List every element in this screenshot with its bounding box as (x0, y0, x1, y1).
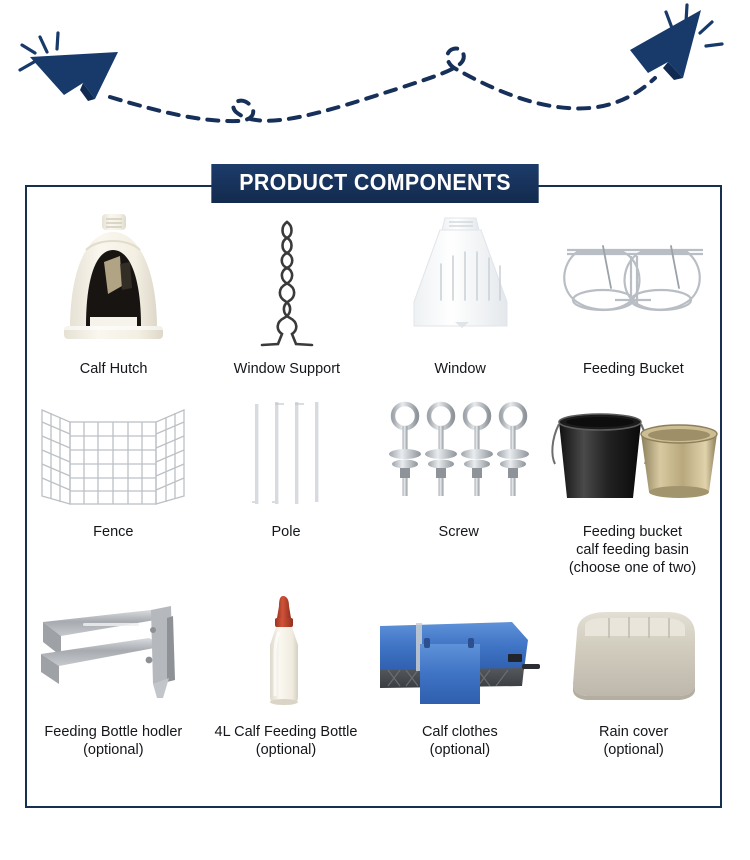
component-label: Window Support (234, 360, 340, 378)
calf-hutch-image (27, 204, 200, 354)
component-label: Pole (271, 523, 300, 541)
component-label: Rain cover (optional) (599, 723, 668, 759)
product-components-page: PRODUCT COMPONENTS (0, 0, 750, 860)
components-row: Feeding Bottle hodler (optional) (27, 592, 720, 759)
component-feeding-bucket-basin[interactable]: Feeding bucket calf feeding basin (choos… (545, 392, 720, 577)
header-decoration (0, 0, 750, 160)
feeding-bucket-basin-image (545, 392, 720, 517)
section-title-banner: PRODUCT COMPONENTS (0, 161, 750, 205)
components-grid: Calf Hutch Window Support (27, 200, 720, 759)
screw-image (372, 392, 545, 517)
feeding-bucket-image (547, 204, 720, 354)
calf-feeding-bottle-image (200, 592, 373, 717)
component-pole[interactable]: Pole (200, 392, 373, 577)
component-window-support[interactable]: Window Support (200, 204, 373, 378)
paper-plane-icon-left (20, 33, 118, 101)
window-support-image (200, 204, 373, 354)
component-label: 4L Calf Feeding Bottle (optional) (215, 723, 358, 759)
component-calf-hutch[interactable]: Calf Hutch (27, 204, 200, 378)
pole-image (200, 392, 373, 517)
window-image (374, 204, 547, 354)
component-feeding-bottle-holder[interactable]: Feeding Bottle hodler (optional) (27, 592, 200, 759)
component-label: Feeding bucket calf feeding basin (choos… (569, 523, 696, 577)
rain-cover-image (547, 592, 720, 717)
component-screw[interactable]: Screw (372, 392, 545, 577)
component-label: Window (434, 360, 486, 378)
component-label: Feeding Bottle hodler (optional) (44, 723, 182, 759)
component-fence[interactable]: Fence (27, 392, 200, 577)
component-label: Calf clothes (optional) (422, 723, 498, 759)
component-calf-feeding-bottle[interactable]: 4L Calf Feeding Bottle (optional) (200, 592, 373, 759)
component-calf-clothes[interactable]: Calf clothes (optional) (372, 592, 547, 759)
component-label: Fence (93, 523, 133, 541)
paper-plane-icon-right (630, 5, 722, 80)
component-rain-cover[interactable]: Rain cover (optional) (547, 592, 720, 759)
components-row: Fence (27, 392, 720, 577)
component-label: Feeding Bucket (583, 360, 684, 378)
dashed-path (110, 48, 655, 121)
component-window[interactable]: Window (374, 204, 547, 378)
component-label: Calf Hutch (80, 360, 148, 378)
component-label: Screw (439, 523, 479, 541)
fence-image (27, 392, 200, 517)
component-feeding-bucket[interactable]: Feeding Bucket (547, 204, 720, 378)
components-row: Calf Hutch Window Support (27, 204, 720, 378)
feeding-bottle-holder-image (27, 592, 200, 717)
page-title: PRODUCT COMPONENTS (211, 164, 539, 203)
calf-clothes-image (372, 592, 547, 717)
